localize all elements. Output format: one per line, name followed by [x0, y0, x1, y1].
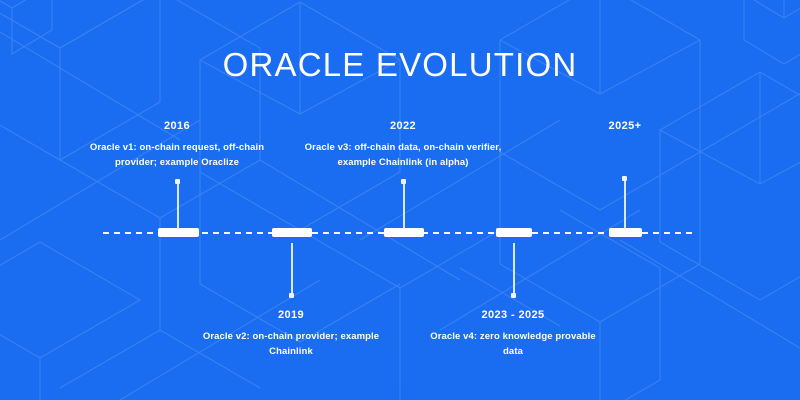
slide-canvas: ORACLE EVOLUTION 2016 Oracle v1: on-chai…	[0, 0, 800, 400]
timeline-node-future	[609, 228, 642, 237]
milestone-year-v3: 2022	[298, 120, 508, 132]
connector-cap-v3	[401, 179, 406, 184]
connector-line-v2	[291, 243, 293, 295]
connector-cap-future	[622, 176, 627, 181]
timeline-node-v1	[158, 228, 199, 237]
milestone-v1: 2016 Oracle v1: on-chain request, off-ch…	[77, 120, 277, 170]
milestone-description-v3: Oracle v3: off-chain data, on-chain veri…	[298, 141, 508, 170]
milestone-year-future: 2025+	[555, 120, 695, 132]
slide-title: ORACLE EVOLUTION	[0, 46, 800, 84]
connector-cap-v1	[175, 179, 180, 184]
milestone-future: 2025+	[555, 120, 695, 141]
connector-line-v4	[513, 243, 515, 295]
milestone-v4: 2023 - 2025 Oracle v4: zero knowledge pr…	[423, 309, 603, 359]
connector-line-v3	[403, 181, 405, 229]
connector-cap-v4	[511, 293, 516, 298]
milestone-year-v2: 2019	[196, 309, 386, 321]
timeline-node-v2	[272, 228, 312, 237]
connector-cap-v2	[289, 293, 294, 298]
milestone-year-v4: 2023 - 2025	[423, 309, 603, 321]
milestone-v3: 2022 Oracle v3: off-chain data, on-chain…	[298, 120, 508, 170]
connector-line-v1	[177, 181, 179, 229]
milestone-description-v4: Oracle v4: zero knowledge provable data	[423, 330, 603, 359]
milestone-year-v1: 2016	[77, 120, 277, 132]
milestone-description-v2: Oracle v2: on-chain provider; example Ch…	[196, 330, 386, 359]
connector-line-future	[624, 178, 626, 229]
milestone-v2: 2019 Oracle v2: on-chain provider; examp…	[196, 309, 386, 359]
timeline-node-v3	[384, 228, 424, 237]
milestone-description-v1: Oracle v1: on-chain request, off-chain p…	[77, 141, 277, 170]
timeline-node-v4	[496, 228, 532, 237]
